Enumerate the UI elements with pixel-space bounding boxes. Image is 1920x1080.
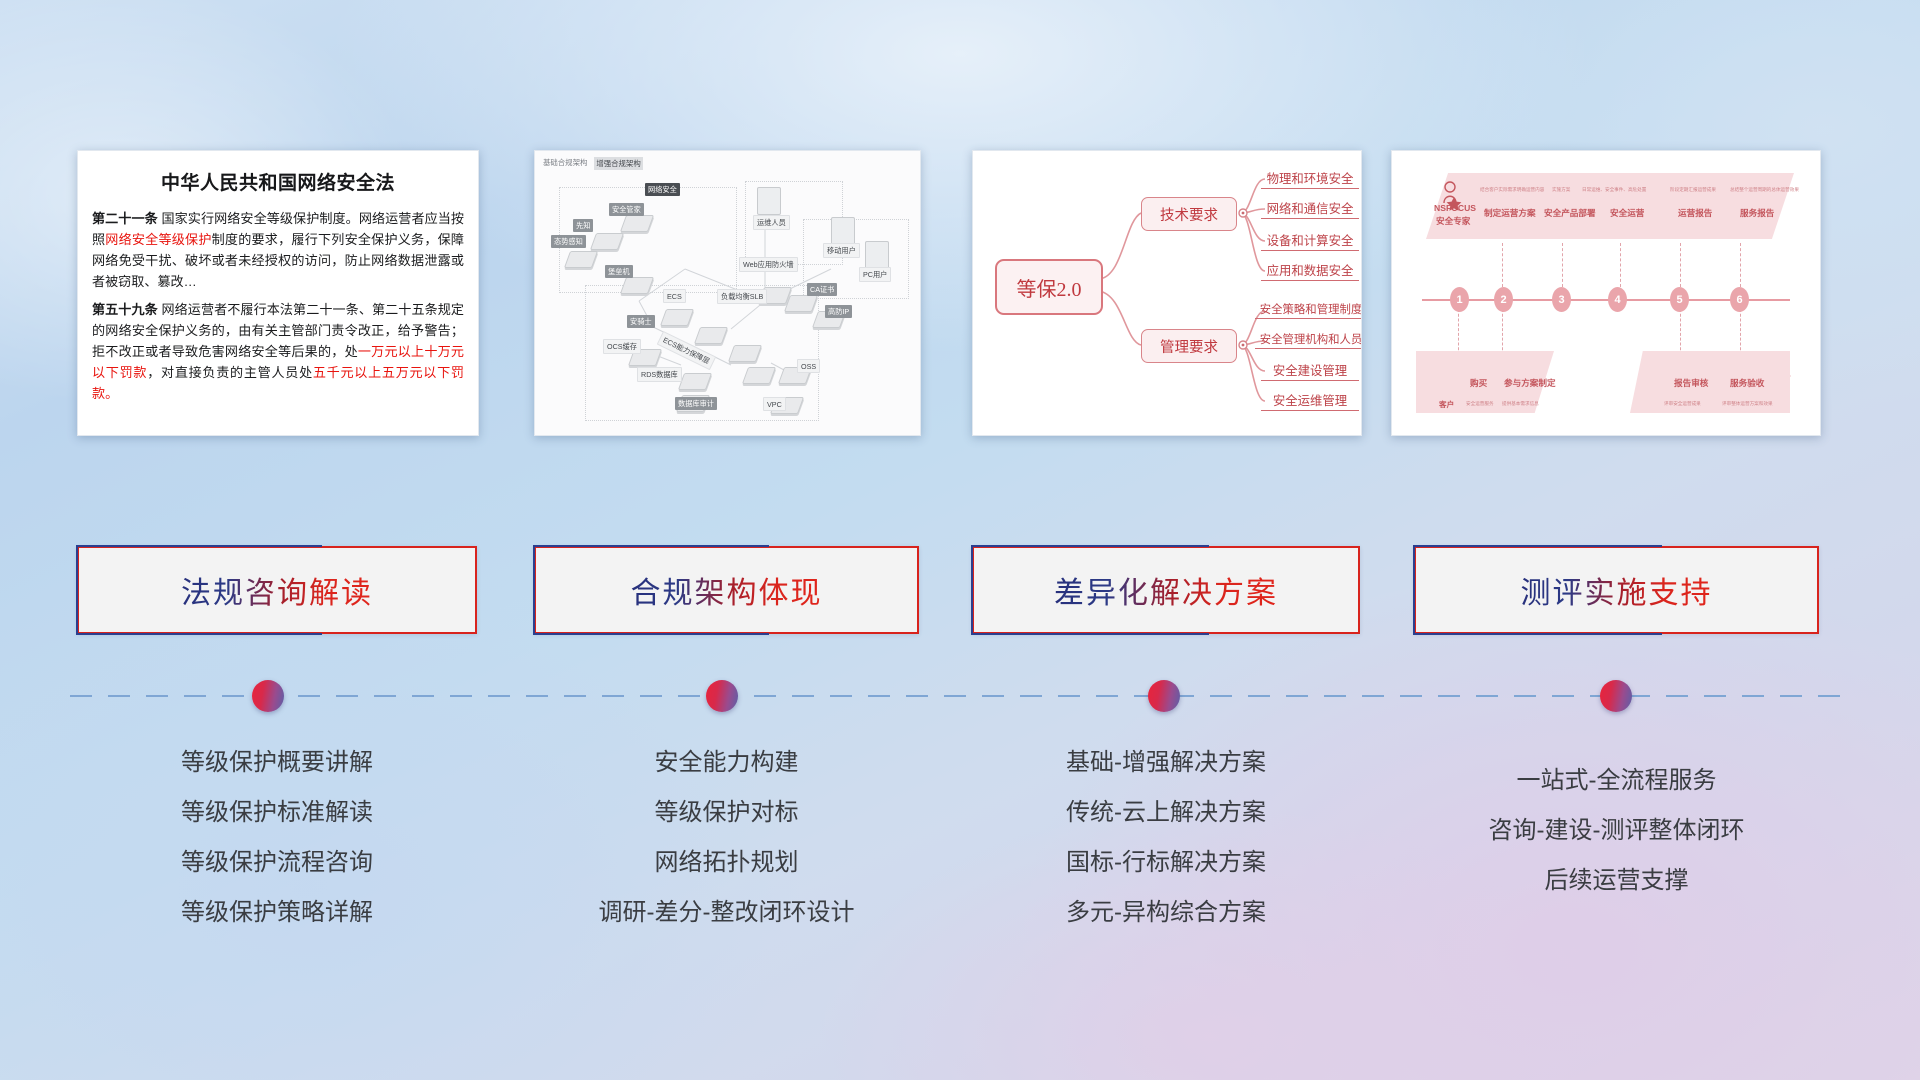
arch-label-xianzhi: 先知 bbox=[573, 219, 593, 232]
card-compliance-architecture: 基础合规架构 增强合规架构 bbox=[534, 150, 921, 436]
vendor-step-2-title: 安全产品部署 bbox=[1544, 207, 1596, 219]
section-title-box-2[interactable]: 合规架构体现 bbox=[534, 546, 919, 634]
list-item: 等级保护概要讲解 bbox=[77, 738, 477, 788]
vendor-step-2-sub: 实施方案 bbox=[1552, 187, 1570, 193]
list-item: 后续运营支撑 bbox=[1414, 856, 1819, 906]
arch-label-rds-db: RDS数据库 bbox=[637, 367, 682, 382]
connector-dash-1 bbox=[1502, 243, 1504, 287]
mindmap: 等保2.0 技术要求 管理要求 物理和环境安全 网络和通信安全 设备和计算安全 … bbox=[973, 151, 1361, 435]
connector-dash-2 bbox=[1562, 243, 1564, 287]
vendor-step-5-sub: 总结整个运营周期的总体运营效果 bbox=[1730, 187, 1799, 193]
mindmap-root-node: 等保2.0 bbox=[995, 259, 1103, 315]
customer-step-2-title: 参与方案制定 bbox=[1504, 377, 1556, 389]
timeline-node-1[interactable] bbox=[252, 680, 284, 712]
section-title-box-1[interactable]: 法规咨询解读 bbox=[77, 546, 477, 634]
timeline-marker-1: 1 bbox=[1450, 287, 1469, 312]
connector-dash-7 bbox=[1502, 309, 1504, 355]
law-article-21-highlight: 网络安全等级保护 bbox=[105, 232, 211, 247]
mindmap-leaf-operation-mgmt: 安全运维管理 bbox=[1261, 391, 1359, 411]
customer-step-4-title: 服务验收 bbox=[1730, 377, 1764, 389]
arch-label-ca-cert: CA证书 bbox=[807, 283, 837, 296]
timeline-node-4[interactable] bbox=[1600, 680, 1632, 712]
list-item: 网络拓扑规划 bbox=[534, 838, 919, 888]
architecture-diagram: 基础合规架构 增强合规架构 bbox=[535, 151, 920, 435]
mindmap-leaf-policy-system: 安全策略和管理制度 bbox=[1255, 301, 1362, 319]
arch-label-anqishi: 安骑士 bbox=[627, 315, 655, 328]
vendor-step-1-sub: 结合客户实际需求明确运营内容 bbox=[1480, 187, 1544, 193]
mindmap-leaf-network-comm: 网络和通信安全 bbox=[1261, 199, 1359, 219]
list-item: 调研-差分-整改闭环设计 bbox=[534, 888, 919, 938]
card-mindmap-dengbao: 等保2.0 技术要求 管理要求 物理和环境安全 网络和通信安全 设备和计算安全 … bbox=[972, 150, 1362, 436]
mindmap-leaf-org-personnel: 安全管理机构和人员 bbox=[1255, 331, 1362, 349]
section-items-2: 安全能力构建 等级保护对标 网络拓扑规划 调研-差分-整改闭环设计 bbox=[534, 738, 919, 938]
timeline-marker-4: 4 bbox=[1608, 287, 1627, 312]
section-items-1: 等级保护概要讲解 等级保护标准解读 等级保护流程咨询 等级保护策略详解 bbox=[77, 738, 477, 938]
vendor-step-4-title: 运营报告 bbox=[1678, 207, 1712, 219]
list-item: 传统-云上解决方案 bbox=[972, 788, 1360, 838]
arch-label-ecs: ECS bbox=[663, 289, 686, 303]
arch-user-pc bbox=[865, 241, 889, 269]
customer-role: 客户 bbox=[1439, 399, 1454, 410]
section-items-3: 基础-增强解决方案 传统-云上解决方案 国标-行标解决方案 多元-异构综合方案 bbox=[972, 738, 1360, 938]
connector-dash-9 bbox=[1740, 309, 1742, 355]
list-item: 等级保护标准解读 bbox=[77, 788, 477, 838]
customer-step-3-sub: 评审安全运营成果 bbox=[1664, 401, 1701, 407]
mindmap-leaf-physical-env: 物理和环境安全 bbox=[1261, 169, 1359, 189]
list-item: 多元-异构综合方案 bbox=[972, 888, 1360, 938]
timeline-marker-6: 6 bbox=[1730, 287, 1749, 312]
list-item: 一站式-全流程服务 bbox=[1414, 756, 1819, 806]
section-title-3: 差异化解决方案 bbox=[1054, 568, 1278, 612]
timeline-node-2[interactable] bbox=[706, 680, 738, 712]
arch-user-mobile bbox=[831, 217, 855, 245]
law-article-21-label: 第二十一条 bbox=[92, 211, 158, 226]
card-nsfocus-timeline: NSFOCUS 安全专家 结合客户实际需求明确运营内容 制定运营方案 实施方案 … bbox=[1391, 150, 1821, 436]
arch-label-vpc: VPC bbox=[763, 397, 786, 411]
mindmap-branch-technical: 技术要求 bbox=[1141, 197, 1237, 231]
vendor-step-4-sub: 阶段定期汇报运营成果 bbox=[1670, 187, 1716, 193]
vendor-name: NSFOCUS bbox=[1434, 203, 1476, 213]
arch-label-waf: Web应用防火墙 bbox=[739, 257, 798, 272]
timeline-dashed-line bbox=[70, 694, 1850, 697]
section-title-box-4[interactable]: 测评实施支持 bbox=[1414, 546, 1819, 634]
arch-label-db-audit: 数据库审计 bbox=[675, 397, 717, 410]
arch-label-security-butler: 安全管家 bbox=[609, 203, 644, 216]
preview-cards-row: 中华人民共和国网络安全法 第二十一条 国家实行网络安全等级保护制度。网络运营者应… bbox=[0, 150, 1920, 440]
list-item: 等级保护对标 bbox=[534, 788, 919, 838]
law-article-59-text-b: ，对直接负责的主管人员处 bbox=[147, 365, 313, 380]
mindmap-leaf-device-compute: 设备和计算安全 bbox=[1261, 231, 1359, 251]
timeline-marker-5: 5 bbox=[1670, 287, 1689, 312]
vendor-step-5-title: 服务报告 bbox=[1740, 207, 1774, 219]
law-article-21: 第二十一条 国家实行网络安全等级保护制度。网络运营者应当按照网络安全等级保护制度… bbox=[92, 208, 464, 292]
arch-label-pc-user: PC用户 bbox=[859, 267, 891, 282]
customer-step-1-sub: 安全运营服务 bbox=[1466, 401, 1494, 407]
arch-label-situational-awareness: 态势感知 bbox=[551, 235, 586, 248]
law-document: 中华人民共和国网络安全法 第二十一条 国家实行网络安全等级保护制度。网络运营者应… bbox=[78, 151, 478, 435]
section-title-box-3[interactable]: 差异化解决方案 bbox=[972, 546, 1360, 634]
nsfocus-process: NSFOCUS 安全专家 结合客户实际需求明确运营内容 制定运营方案 实施方案 … bbox=[1392, 151, 1820, 435]
list-item: 咨询-建设-测评整体闭环 bbox=[1414, 806, 1819, 856]
list-item: 安全能力构建 bbox=[534, 738, 919, 788]
arch-user-ops bbox=[757, 187, 781, 215]
mindmap-leaf-app-data: 应用和数据安全 bbox=[1261, 261, 1359, 281]
connector-dash-5 bbox=[1740, 243, 1742, 287]
arch-label-bastion-host: 堡垒机 bbox=[605, 265, 633, 278]
vendor-step-3-title: 安全运营 bbox=[1610, 207, 1644, 219]
law-title: 中华人民共和国网络安全法 bbox=[92, 168, 464, 195]
law-article-59-label: 第五十九条 bbox=[92, 302, 158, 317]
list-item: 等级保护流程咨询 bbox=[77, 838, 477, 888]
section-titles-row: 法规咨询解读 合规架构体现 差异化解决方案 测评实施支持 bbox=[0, 546, 1920, 641]
mindmap-leaf-construction-mgmt: 安全建设管理 bbox=[1261, 361, 1359, 381]
connector-dash-8 bbox=[1680, 309, 1682, 355]
section-items-row: 等级保护概要讲解 等级保护标准解读 等级保护流程咨询 等级保护策略详解 安全能力… bbox=[0, 738, 1920, 988]
infographic-root: 中华人民共和国网络安全法 第二十一条 国家实行网络安全等级保护制度。网络运营者应… bbox=[0, 0, 1920, 1080]
arch-label-mobile-user: 移动用户 bbox=[823, 243, 860, 258]
arch-label-anti-ddos-ip: 高防IP bbox=[825, 305, 852, 318]
timeline-marker-3: 3 bbox=[1552, 287, 1571, 312]
section-items-4: 一站式-全流程服务 咨询-建设-测评整体闭环 后续运营支撑 bbox=[1414, 756, 1819, 906]
section-title-1: 法规咨询解读 bbox=[181, 568, 373, 612]
section-title-4: 测评实施支持 bbox=[1521, 568, 1713, 612]
section-title-2: 合规架构体现 bbox=[631, 568, 823, 612]
vendor-step-1-title: 制定运营方案 bbox=[1484, 207, 1536, 219]
customer-step-2-sub: 提供基本需求信息 bbox=[1502, 401, 1539, 407]
card-cybersecurity-law: 中华人民共和国网络安全法 第二十一条 国家实行网络安全等级保护制度。网络运营者应… bbox=[77, 150, 479, 436]
customer-step-1-title: 购买 bbox=[1470, 377, 1487, 389]
timeline-node-3[interactable] bbox=[1148, 680, 1180, 712]
mindmap-branch-management: 管理要求 bbox=[1141, 329, 1237, 363]
arch-label-ocs-cache: OCS缓存 bbox=[603, 339, 641, 354]
list-item: 基础-增强解决方案 bbox=[972, 738, 1360, 788]
connector-dash-6 bbox=[1458, 309, 1460, 355]
customer-step-3-title: 报告审核 bbox=[1674, 377, 1708, 389]
list-item: 国标-行标解决方案 bbox=[972, 838, 1360, 888]
arch-label-oss: OSS bbox=[797, 359, 820, 373]
customer-step-4-sub: 评审整体运营方案和效果 bbox=[1722, 401, 1773, 407]
list-item: 等级保护策略详解 bbox=[77, 888, 477, 938]
arch-label-slb: 负载均衡SLB bbox=[717, 289, 767, 304]
arch-label-network-security: 网络安全 bbox=[645, 183, 680, 196]
arch-label-ops-staff: 运维人员 bbox=[753, 215, 790, 230]
connector-dash-4 bbox=[1680, 243, 1682, 287]
vendor-role: 安全专家 bbox=[1436, 215, 1470, 227]
law-article-59: 第五十九条 网络运营者不履行本法第二十一条、第二十五条规定的网络安全保护义务的，… bbox=[92, 299, 464, 404]
vendor-step-3-sub: 日常运维、安全事件、高危处置 bbox=[1582, 187, 1646, 193]
connector-dash-3 bbox=[1620, 243, 1622, 287]
timeline-marker-2: 2 bbox=[1494, 287, 1513, 312]
